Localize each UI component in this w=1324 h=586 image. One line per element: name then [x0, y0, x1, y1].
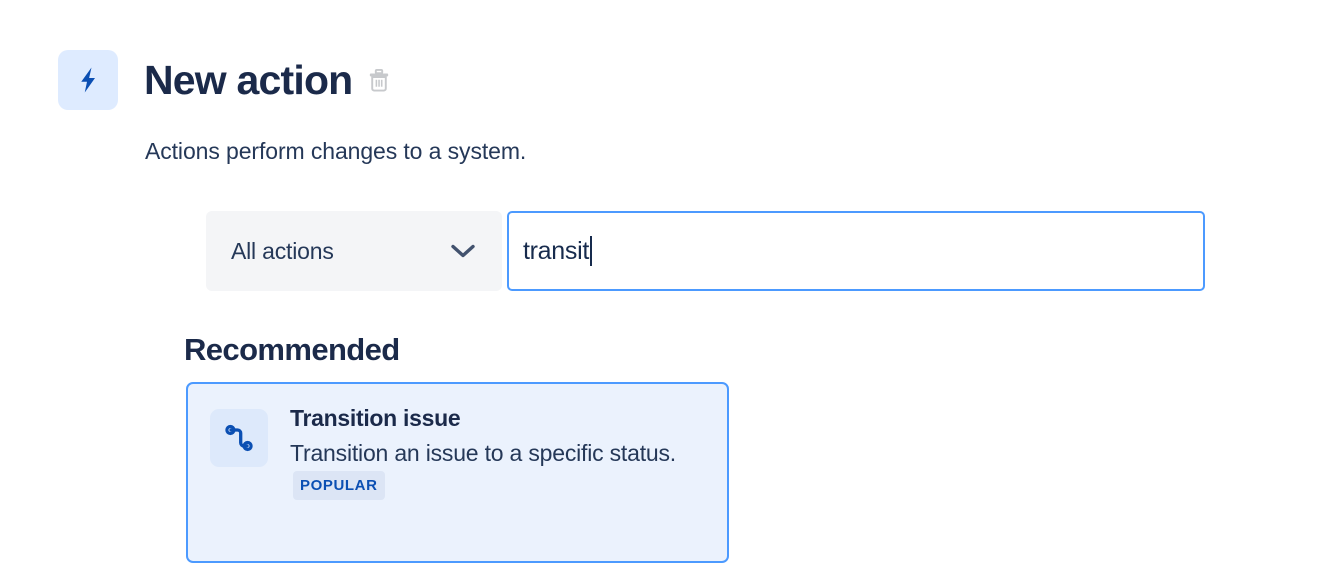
title-group: New action: [144, 60, 392, 101]
card-description: Transition an issue to a specific status…: [290, 440, 676, 466]
text-caret: [590, 236, 592, 266]
transition-path-icon: [210, 409, 268, 467]
page-header: New action: [58, 50, 392, 110]
lightning-bolt-icon: [58, 50, 118, 110]
search-input-value: transit: [523, 239, 589, 264]
action-type-dropdown[interactable]: All actions: [206, 211, 502, 291]
card-description-block: Transition an issue to a specific status…: [290, 437, 700, 502]
popular-badge: POPULAR: [293, 471, 385, 499]
dropdown-selected-label: All actions: [231, 238, 334, 265]
trash-icon[interactable]: [366, 65, 392, 95]
card-title: Transition issue: [290, 405, 700, 433]
card-text-block: Transition issue Transition an issue to …: [290, 404, 700, 561]
recommended-heading: Recommended: [184, 332, 400, 368]
search-input-inner: transit: [523, 236, 592, 266]
page-title: New action: [144, 60, 352, 101]
search-row: All actions transit: [206, 211, 1205, 291]
action-result-card-transition-issue[interactable]: Transition issue Transition an issue to …: [186, 382, 729, 563]
search-input[interactable]: transit: [507, 211, 1205, 291]
page-subtitle: Actions perform changes to a system.: [145, 138, 526, 165]
chevron-down-icon: [450, 243, 476, 259]
